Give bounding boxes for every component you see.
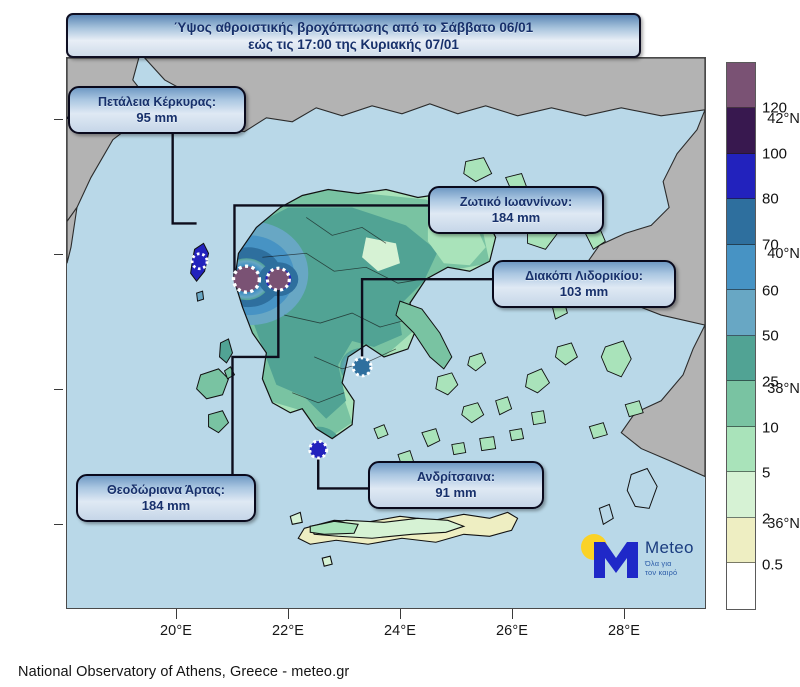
x-tick-label-26e: 26°E [477,623,547,639]
x-tick-mark-28e [624,609,625,619]
rainfall-colorbar[interactable] [726,62,756,610]
callout-petaleia-kerkyras[interactable]: Πετάλεια Κέρκυρας: 95 mm [68,86,246,134]
y-tick-mark-40n [54,254,63,255]
colorbar-tick-100: 100 [762,146,787,163]
station-marker-zotiko [267,268,289,290]
colorbar-segment-5-10 [727,427,755,472]
colorbar-segment-100-120 [727,108,755,153]
colorbar-segment-gt120 [727,63,755,108]
station-marker-theodoriana [233,266,259,292]
title-line-1: Ύψος αθροιστικής βροχόπτωσης από το Σάββ… [174,19,533,36]
station-marker-kerkyra [192,254,207,269]
x-tick-label-20e: 20°E [141,623,211,639]
callout-station-value: 103 mm [560,284,608,300]
map-title-banner: Ύψος αθροιστικής βροχόπτωσης από το Σάββ… [66,13,641,58]
callout-station-value: 184 mm [492,210,540,226]
y-tick-mark-36n [54,524,63,525]
colorbar-segment-80-100 [727,154,755,199]
callout-zotiko-ioanninon[interactable]: Ζωτικό Ιωαννίνων: 184 mm [428,186,604,234]
station-marker-lidoriki [353,358,371,376]
meteo-tagline-line-2: τον καιρό [645,568,677,577]
page-title: Ύψος αθροιστικής βροχόπτωσης από το Σάββ… [174,19,533,53]
colorbar-tick-120: 120 [762,100,787,117]
y-tick-mark-42n [54,119,63,120]
meteo-m-logomark [592,540,640,580]
meteo-logo[interactable]: Meteo Όλα για τον καιρό [578,530,700,586]
colorbar-tick-70: 70 [762,237,779,254]
x-tick-mark-22e [288,609,289,619]
y-tick-mark-38n [54,389,63,390]
map-plot-area[interactable] [66,57,706,609]
colorbar-tick-50: 50 [762,328,779,345]
colorbar-segment-0.5-2 [727,518,755,563]
colorbar-segment-60-70 [727,245,755,290]
colorbar-tick-2: 2 [762,511,770,528]
callout-station-value: 184 mm [142,498,190,514]
title-line-2: εώς τις 17:00 της Κυριακής 07/01 [174,36,533,53]
colorbar-tick-60: 60 [762,283,779,300]
map-surface [67,58,705,608]
colorbar-tick-80: 80 [762,191,779,208]
callout-station-name: Ανδρίτσαινα: [417,470,495,485]
callout-station-name: Θεοδώριανα Άρτας: [107,483,225,498]
colorbar-segment-25-50 [727,336,755,381]
callout-andritsaina[interactable]: Ανδρίτσαινα: 91 mm [368,461,544,509]
x-tick-mark-26e [512,609,513,619]
callout-station-value: 91 mm [435,485,476,501]
colorbar-segment-70-80 [727,199,755,244]
colorbar-segment-lt0.5 [727,563,755,609]
callout-station-value: 95 mm [136,110,177,126]
callout-theodoriana-artas[interactable]: Θεοδώριανα Άρτας: 184 mm [76,474,256,522]
meteo-brand-text: Meteo [645,538,694,558]
x-tick-label-22e: 22°E [253,623,323,639]
callout-station-name: Πετάλεια Κέρκυρας: [98,95,216,110]
x-tick-mark-20e [176,609,177,619]
colorbar-segment-10-25 [727,381,755,426]
x-tick-mark-24e [400,609,401,619]
rainfall-map-figure: 42°N 40°N 38°N 36°N 20°E 22°E 24°E 26°E … [0,0,800,687]
colorbar-segment-2-5 [727,472,755,517]
x-tick-label-24e: 24°E [365,623,435,639]
callout-station-name: Ζωτικό Ιωαννίνων: [460,195,572,210]
meteo-tagline: Όλα για τον καιρό [645,559,677,577]
colorbar-tick-25: 25 [762,374,779,391]
callout-station-name: Διακόπι Λιδορικίου: [525,269,643,284]
x-tick-label-28e: 28°E [589,623,659,639]
colorbar-tick-5: 5 [762,465,770,482]
source-credit: National Observatory of Athens, Greece -… [18,664,349,680]
colorbar-tick-0.5: 0.5 [762,557,783,574]
station-marker-andritsaina [310,441,327,458]
callout-diakopi-lidorikiou[interactable]: Διακόπι Λιδορικίου: 103 mm [492,260,676,308]
colorbar-segment-50-60 [727,290,755,335]
meteo-tagline-line-1: Όλα για [645,559,677,568]
colorbar-tick-10: 10 [762,420,779,437]
